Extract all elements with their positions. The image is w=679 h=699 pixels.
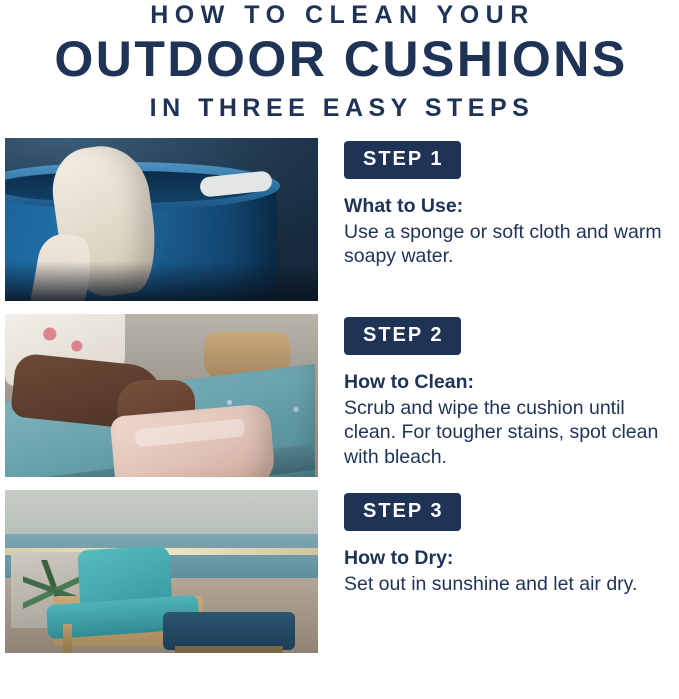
title-line-1: HOW TO CLEAN YOUR [6,2,679,28]
steps-list: STEP 1 What to Use: Use a sponge or soft… [0,138,679,653]
step-heading: What to Use: [344,195,679,218]
step-body: Set out in sunshine and let air dry. [344,572,637,597]
status-badge: STEP 2 [344,317,461,355]
photo-vignette [5,261,318,301]
step-text-block: STEP 3 How to Dry: Set out in sunshine a… [344,490,637,597]
step-text-block: STEP 1 What to Use: Use a sponge or soft… [344,138,679,270]
page-header: HOW TO CLEAN YOUR OUTDOOR CUSHIONS IN TH… [0,0,679,122]
step-body: Use a sponge or soft cloth and warm soap… [344,220,679,270]
step-item: STEP 1 What to Use: Use a sponge or soft… [0,138,679,301]
title-line-3: IN THREE EASY STEPS [5,95,679,121]
step-item: STEP 3 How to Dry: Set out in sunshine a… [0,490,679,653]
ottoman-cushion [163,612,295,650]
step-heading: How to Dry: [344,547,637,570]
step-item: STEP 2 How to Clean: Scrub and wipe the … [0,314,679,477]
step-heading: How to Clean: [344,371,679,394]
hand-scrubbing-cushion-photo [5,314,318,477]
step-body: Scrub and wipe the cushion until clean. … [344,396,679,471]
chair-leg [63,624,72,653]
page-title: OUTDOOR CUSHIONS [3,32,679,86]
lounge-chair-drying-photo [5,490,318,653]
step-text-block: STEP 2 How to Clean: Scrub and wipe the … [344,314,679,471]
status-badge: STEP 1 [344,141,461,179]
bucket-with-cloth-photo [5,138,318,301]
ottoman-frame [175,646,283,653]
status-badge: STEP 3 [344,493,461,531]
